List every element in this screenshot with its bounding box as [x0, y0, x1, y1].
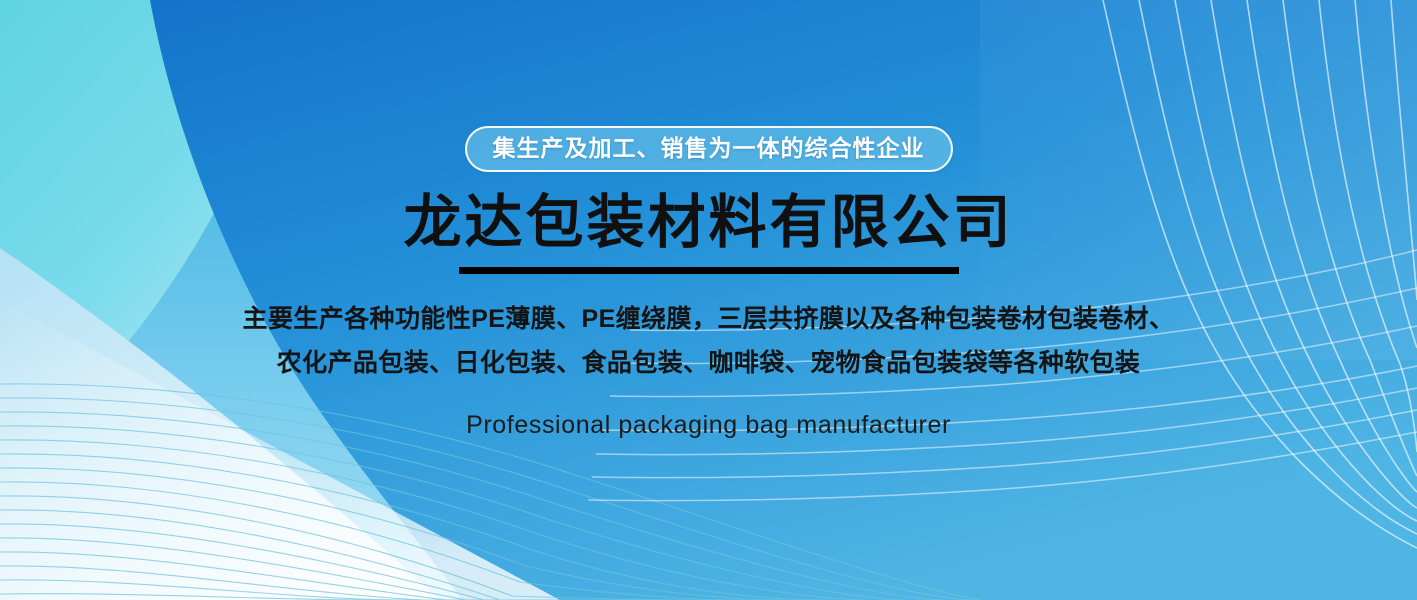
- title-underline-rule: [459, 267, 959, 274]
- description-line-2: 农化产品包装、日化包装、食品包装、咖啡袋、宠物食品包装袋等各种软包装: [243, 343, 1175, 384]
- tagline-badge: 集生产及加工、销售为一体的综合性企业: [465, 126, 953, 172]
- company-hero-banner: 集生产及加工、销售为一体的综合性企业 龙达包装材料有限公司 主要生产各种功能性P…: [0, 0, 1417, 600]
- description-line-1: 主要生产各种功能性PE薄膜、PE缠绕膜，三层共挤膜以及各种包装卷材包装卷材、: [243, 299, 1175, 340]
- description-block: 主要生产各种功能性PE薄膜、PE缠绕膜，三层共挤膜以及各种包装卷材包装卷材、 农…: [243, 299, 1175, 383]
- english-tagline: Professional packaging bag manufacturer: [466, 411, 951, 440]
- company-title: 龙达包装材料有限公司: [403, 191, 1013, 256]
- banner-content: 集生产及加工、销售为一体的综合性企业 龙达包装材料有限公司 主要生产各种功能性P…: [0, 0, 1417, 600]
